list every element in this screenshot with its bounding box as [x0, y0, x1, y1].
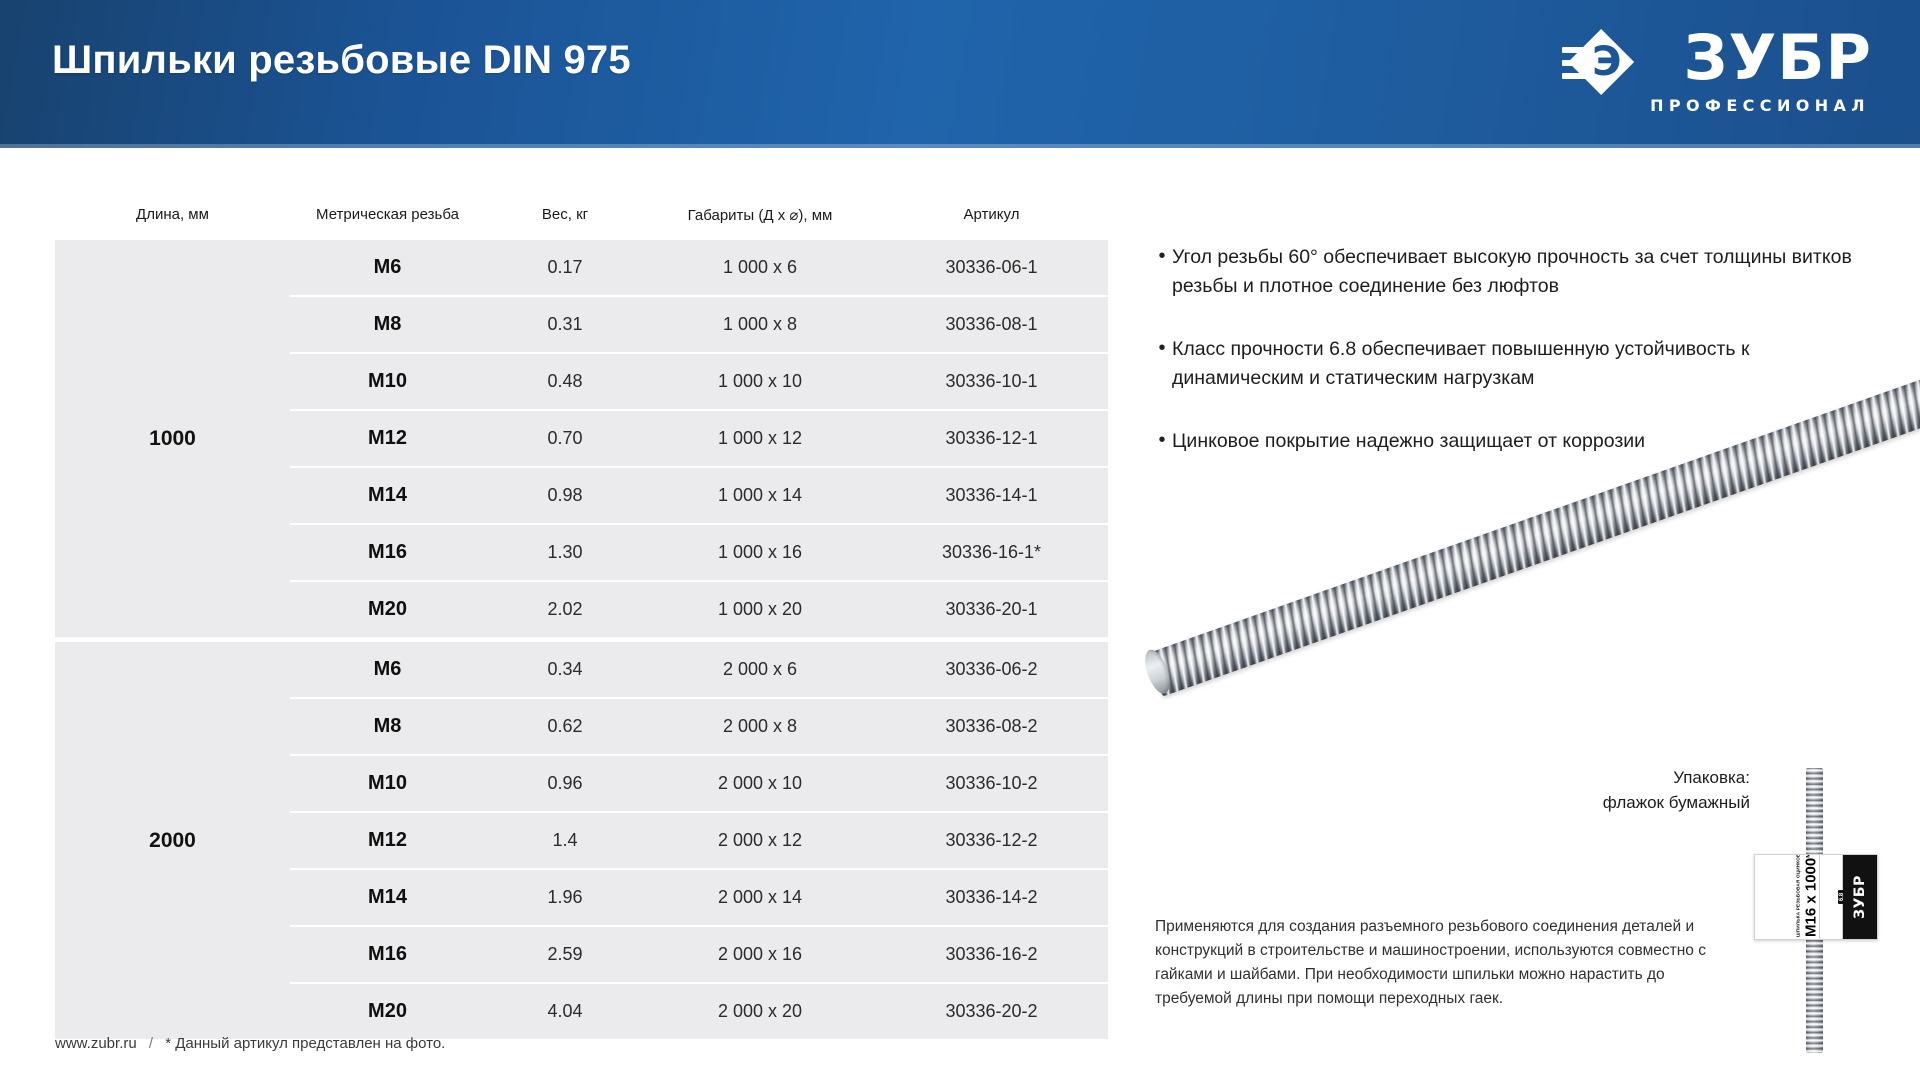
cell-thread: M16 [290, 541, 485, 564]
cell-weight: 0.70 [485, 428, 645, 449]
cell-dimensions: 1 000 x 16 [645, 542, 875, 563]
group-length-label: 2000 [55, 642, 290, 1039]
cell-thread: M10 [290, 772, 485, 795]
table-row: M14 0.98 1 000 x 14 30336-14-1 [290, 466, 1108, 523]
flag-brand-name: ЗУБР [1852, 875, 1868, 919]
website-link[interactable]: www.zubr.ru [55, 1035, 137, 1052]
table-group-2000: 2000 M6 0.34 2 000 x 6 30336-06-2 M8 0.6… [55, 642, 1108, 1039]
cell-article: 30336-12-1 [875, 428, 1108, 449]
cell-dimensions: 1 000 x 20 [645, 599, 875, 620]
logo-letter: Э [1592, 41, 1621, 83]
features-list: • Угол резьбы 60° обеспечивает высокую п… [1152, 243, 1872, 490]
table-row: M8 0.31 1 000 x 8 30336-08-1 [290, 295, 1108, 352]
cell-thread: M6 [290, 658, 485, 681]
cell-dimensions: 2 000 x 14 [645, 887, 875, 908]
cell-article: 30336-06-1 [875, 257, 1108, 278]
cell-thread: M20 [290, 598, 485, 621]
flag-left-panel: ШПИЛЬКА РЕЗЬБОВАЯ ОЦИНКОВАННАЯ M16 x 100… [1755, 855, 1820, 939]
cell-weight: 0.34 [485, 659, 645, 680]
feature-item: • Угол резьбы 60° обеспечивает высокую п… [1152, 243, 1872, 301]
feature-text: Цинковое покрытие надежно защищает от ко… [1172, 427, 1645, 456]
table-row: M14 1.96 2 000 x 14 30336-14-2 [290, 868, 1108, 925]
cell-article: 30336-16-1* [875, 542, 1108, 563]
flag-size-unit: мм [1806, 854, 1812, 858]
column-header-article: Артикул [875, 196, 1108, 223]
cell-weight: 0.98 [485, 485, 645, 506]
bullet-icon: • [1152, 335, 1172, 393]
packaging-photo: ШПИЛЬКА РЕЗЬБОВАЯ ОЦИНКОВАННАЯ M16 x 100… [1750, 768, 1878, 1053]
cell-article: 30336-20-1 [875, 599, 1108, 620]
cell-thread: M16 [290, 943, 485, 966]
cell-weight: 0.62 [485, 716, 645, 737]
packaging-caption: Упаковка: флажок бумажный [1450, 765, 1750, 815]
column-header-dimensions: Габариты (Д х ⌀), мм [645, 196, 875, 224]
packaging-caption-line1: Упаковка: [1450, 765, 1750, 790]
cell-article: 30336-10-2 [875, 773, 1108, 794]
cell-thread: M14 [290, 886, 485, 909]
flag-brand-panel: ЗУБР [1843, 855, 1877, 939]
cell-article: 30336-20-2 [875, 1001, 1108, 1022]
cell-weight: 4.04 [485, 1001, 645, 1022]
table-row: M20 2.02 1 000 x 20 30336-20-1 [290, 580, 1108, 637]
feature-item: • Класс прочности 6.8 обеспечивает повыш… [1152, 335, 1872, 393]
cell-weight: 1.30 [485, 542, 645, 563]
specifications-table: Длина, мм Метрическая резьба Вес, кг Габ… [55, 196, 1108, 1044]
table-row: M20 4.04 2 000 x 20 30336-20-2 [290, 982, 1108, 1039]
cell-thread: M10 [290, 370, 485, 393]
page-header: Шпильки резьбовые DIN 975 Э ЗУБР ПРОФЕСС… [0, 0, 1920, 148]
cell-dimensions: 2 000 x 16 [645, 944, 875, 965]
feature-text: Угол резьбы 60° обеспечивает высокую про… [1172, 243, 1872, 301]
cell-dimensions: 2 000 x 12 [645, 830, 875, 851]
cell-dimensions: 1 000 x 8 [645, 314, 875, 335]
description-text: Применяются для создания разъемного резь… [1155, 915, 1715, 1011]
bullet-icon: • [1152, 243, 1172, 301]
cell-thread: M20 [290, 1000, 485, 1023]
cell-article: 30336-08-1 [875, 314, 1108, 335]
table-group-1000: 1000 M6 0.17 1 000 x 6 30336-06-1 M8 0.3… [55, 240, 1108, 637]
cell-weight: 0.17 [485, 257, 645, 278]
cell-article: 30336-14-1 [875, 485, 1108, 506]
cell-article: 30336-08-2 [875, 716, 1108, 737]
table-row: M16 1.30 1 000 x 16 30336-16-1* [290, 523, 1108, 580]
cell-article: 30336-10-1 [875, 371, 1108, 392]
table-row: M6 0.17 1 000 x 6 30336-06-1 [290, 240, 1108, 295]
cell-thread: M12 [290, 427, 485, 450]
zubr-logo-mark-icon: Э [1562, 29, 1640, 99]
cell-dimensions: 2 000 x 8 [645, 716, 875, 737]
cell-weight: 2.02 [485, 599, 645, 620]
table-row: M12 0.70 1 000 x 12 30336-12-1 [290, 409, 1108, 466]
rod-end-face [1140, 647, 1174, 697]
group-length-label: 1000 [55, 240, 290, 637]
table-row: M12 1.4 2 000 x 12 30336-12-2 [290, 811, 1108, 868]
cell-weight: 1.96 [485, 887, 645, 908]
flag-size-value: M16 x 1000 [1803, 858, 1820, 937]
table-row: M10 0.48 1 000 x 10 30336-10-1 [290, 352, 1108, 409]
cell-weight: 0.96 [485, 773, 645, 794]
cell-weight: 0.48 [485, 371, 645, 392]
zubr-logo: Э ЗУБР ПРОФЕССИОНАЛ [1562, 27, 1872, 123]
cell-thread: M14 [290, 484, 485, 507]
cell-dimensions: 1 000 x 6 [645, 257, 875, 278]
cell-weight: 1.4 [485, 830, 645, 851]
flag-product-type: ШПИЛЬКА РЕЗЬБОВАЯ ОЦИНКОВАННАЯ [1796, 857, 1801, 937]
cell-weight: 0.31 [485, 314, 645, 335]
feature-text: Класс прочности 6.8 обеспечивает повышен… [1172, 335, 1872, 393]
cell-weight: 2.59 [485, 944, 645, 965]
cell-article: 30336-16-2 [875, 944, 1108, 965]
column-header-weight: Вес, кг [485, 196, 645, 223]
table-header-row: Длина, мм Метрическая резьба Вес, кг Габ… [55, 196, 1108, 240]
cell-dimensions: 2 000 x 20 [645, 1001, 875, 1022]
cell-dimensions: 1 000 x 14 [645, 485, 875, 506]
cell-article: 30336-06-2 [875, 659, 1108, 680]
cell-dimensions: 1 000 x 10 [645, 371, 875, 392]
table-row: M10 0.96 2 000 x 10 30336-10-2 [290, 754, 1108, 811]
table-row: M6 0.34 2 000 x 6 30336-06-2 [290, 642, 1108, 697]
footer-separator: / [149, 1035, 153, 1052]
flag-size: M16 x 1000мм [1803, 857, 1820, 937]
table-row: M16 2.59 2 000 x 16 30336-16-2 [290, 925, 1108, 982]
paper-flag-label: ШПИЛЬКА РЕЗЬБОВАЯ ОЦИНКОВАННАЯ M16 x 100… [1754, 854, 1878, 940]
packaging-caption-line2: флажок бумажный [1450, 790, 1750, 815]
cell-thread: M8 [290, 313, 485, 336]
brand-name: ЗУБР [1683, 27, 1872, 89]
brand-subtitle: ПРОФЕССИОНАЛ [1650, 96, 1870, 115]
cell-thread: M8 [290, 715, 485, 738]
table-row: M8 0.62 2 000 x 8 30336-08-2 [290, 697, 1108, 754]
footer: www.zubr.ru / * Данный артикул представл… [55, 1035, 445, 1052]
feature-item: • Цинковое покрытие надежно защищает от … [1152, 427, 1872, 456]
logo-wordmark: ЗУБР ПРОФЕССИОНАЛ [1650, 27, 1872, 115]
page-title: Шпильки резьбовые DIN 975 [52, 38, 631, 83]
cell-dimensions: 2 000 x 10 [645, 773, 875, 794]
cell-thread: M6 [290, 256, 485, 279]
footnote-text: * Данный артикул представлен на фото. [165, 1035, 445, 1052]
cell-thread: M12 [290, 829, 485, 852]
column-header-length: Длина, мм [55, 196, 290, 223]
cell-dimensions: 2 000 x 6 [645, 659, 875, 680]
column-header-thread: Метрическая резьба [290, 196, 485, 223]
cell-article: 30336-14-2 [875, 887, 1108, 908]
cell-dimensions: 1 000 x 12 [645, 428, 875, 449]
bullet-icon: • [1152, 427, 1172, 456]
flag-middle-panel: 6.8 DIN 975 [1820, 855, 1843, 939]
cell-article: 30336-12-2 [875, 830, 1108, 851]
